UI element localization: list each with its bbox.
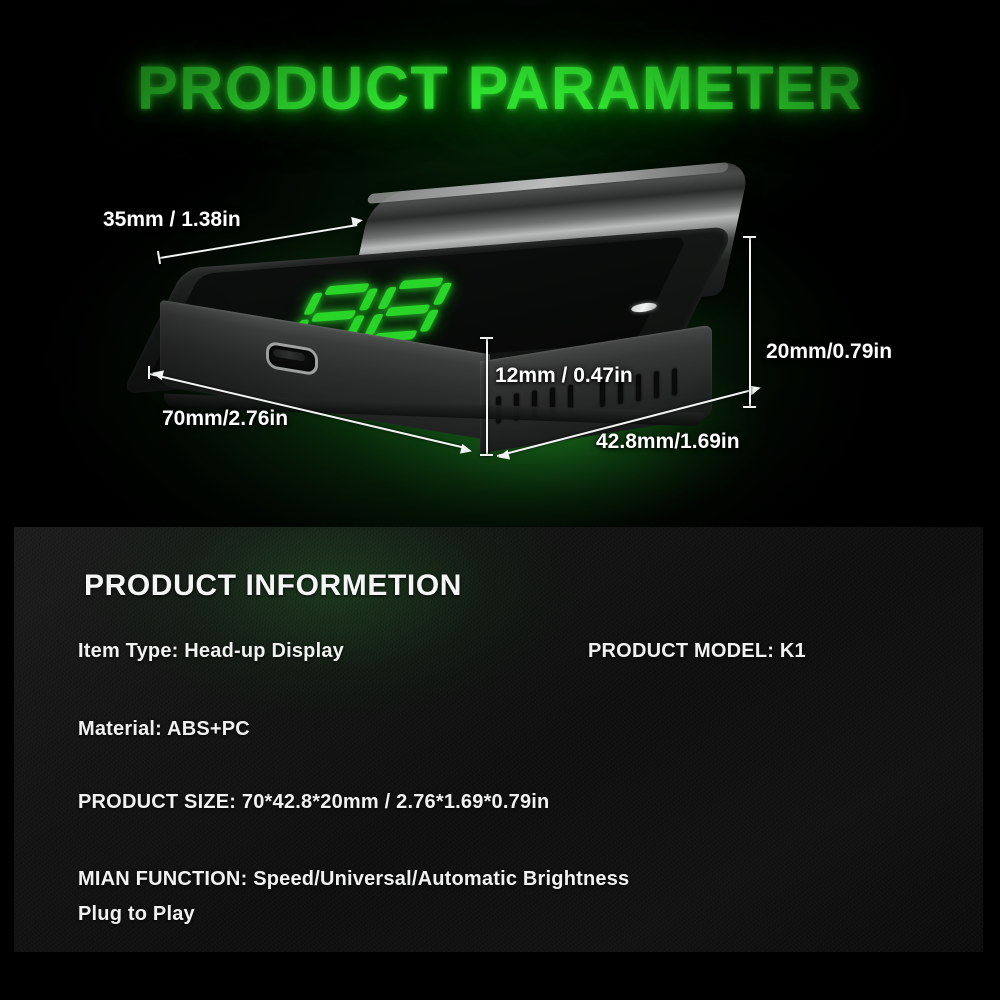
- dimension-cap-total-bottom: [743, 406, 756, 408]
- dimension-cap-body-top: [480, 337, 493, 339]
- spec-main-function-line2: Plug to Play: [78, 903, 195, 926]
- dimension-label-side-depth: 42.8mm/1.69in: [596, 430, 740, 454]
- dimension-label-depth: 35mm / 1.38in: [103, 208, 241, 232]
- info-panel-title: PRODUCT INFORMETION: [84, 569, 983, 603]
- dimension-cap-total-top: [743, 236, 756, 238]
- vignette-overlay: [0, 0, 1000, 527]
- dimension-line-total-height: [749, 236, 751, 408]
- dimension-label-total-height: 20mm/0.79in: [766, 340, 892, 364]
- product-parameter-infographic: PRODUCT PARAMETER: [0, 0, 1000, 1000]
- dimension-arrow-depth-end: [351, 215, 363, 227]
- spec-item-type: Item Type: Head-up Display: [78, 640, 344, 663]
- spec-product-size: PRODUCT SIZE: 70*42.8*20mm / 2.76*1.69*0…: [78, 791, 549, 814]
- dimension-label-width: 70mm/2.76in: [162, 407, 288, 431]
- dimension-label-body-height: 12mm / 0.47in: [495, 364, 633, 388]
- dimension-arrow-width-start: [151, 368, 164, 380]
- spec-material: Material: ABS+PC: [78, 718, 250, 741]
- dimension-cap-body-bottom: [480, 454, 493, 456]
- spec-main-function: MIAN FUNCTION: Speed/Universal/Automatic…: [78, 868, 629, 891]
- spec-product-model: PRODUCT MODEL: K1: [588, 640, 806, 663]
- dimension-cap-width-start: [148, 366, 150, 379]
- hero-section: PRODUCT PARAMETER: [0, 0, 1000, 527]
- dimension-line-body-height: [486, 337, 488, 456]
- dimension-arrow-width-end: [460, 444, 473, 456]
